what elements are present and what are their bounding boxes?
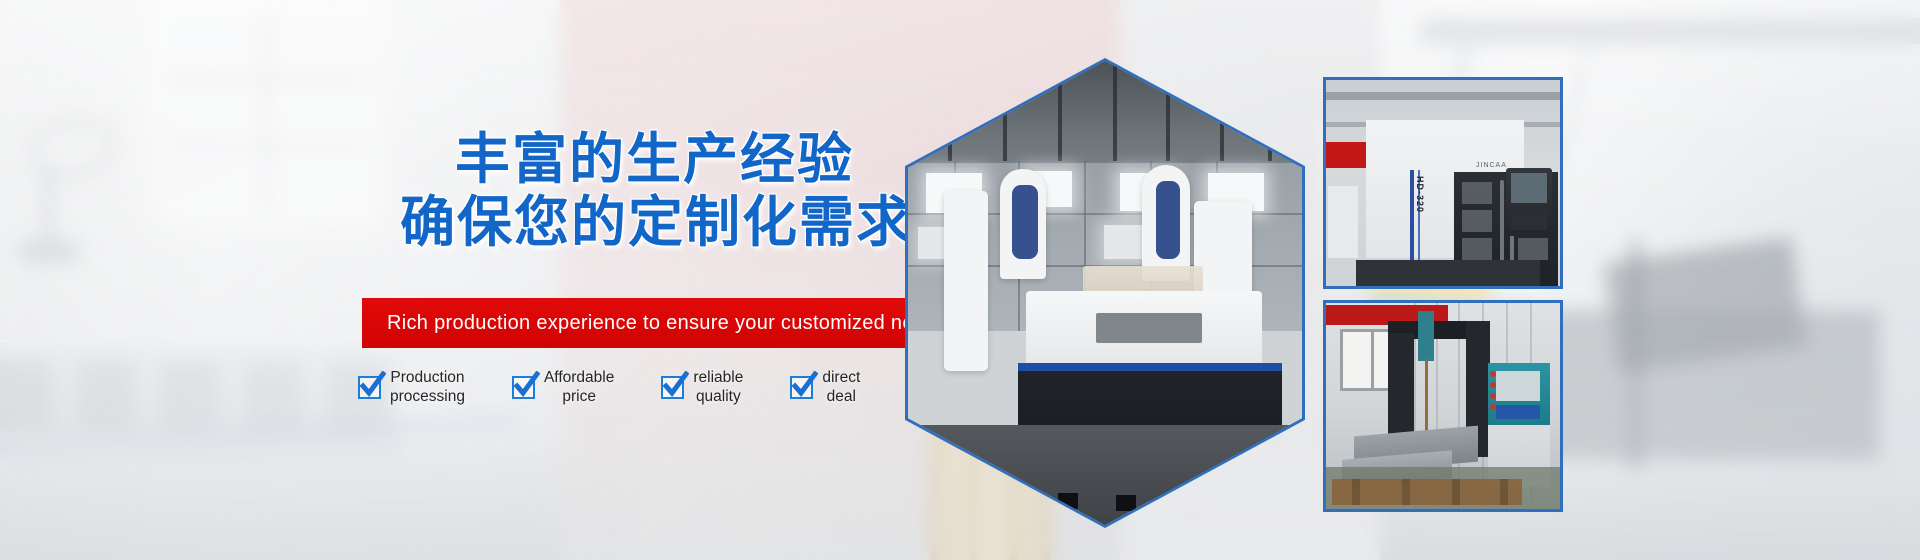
- p1-control-screen: [1511, 173, 1547, 203]
- checkbox-checked-icon[interactable]: [512, 376, 535, 399]
- subtitle-text: Rich production experience to ensure you…: [387, 312, 947, 335]
- banner-text-block: 丰富的生产经验 确保您的定制化需求 Rich production experi…: [0, 0, 980, 560]
- p1-model-label: HD-320: [1415, 176, 1425, 213]
- checkbox-checked-icon[interactable]: [790, 376, 813, 399]
- machine-column-left: [944, 191, 988, 371]
- p2-control-cabinet-top: [1488, 363, 1550, 425]
- p2-wooden-pallet: [1332, 479, 1522, 505]
- p2-control-screen: [1496, 371, 1540, 401]
- p1-side-cabinet: [1328, 186, 1358, 258]
- feature-list: Production processing Affordable price r…: [358, 368, 860, 407]
- checkbox-checked-icon[interactable]: [661, 376, 684, 399]
- machine-head-left-window: [1012, 185, 1038, 259]
- feature-label: Affordable price: [544, 368, 614, 407]
- machine-head-right-window: [1156, 181, 1180, 259]
- machine-foot: [1116, 495, 1136, 511]
- feature-item-affordable-price[interactable]: Affordable price: [512, 368, 614, 407]
- p2-control-buttons: [1490, 371, 1496, 421]
- p2-control-keypad: [1496, 405, 1540, 419]
- worktable-slot: [1096, 313, 1202, 343]
- p2-electrode-wire: [1425, 359, 1428, 437]
- p1-brand-mark: JINCAA: [1476, 162, 1507, 169]
- feature-label: reliable quality: [693, 368, 743, 407]
- machine-worktable: [1026, 291, 1262, 371]
- p1-machine-body: HD-320 JINCAA: [1366, 120, 1524, 258]
- p1-control-keypad: [1511, 210, 1547, 230]
- photo-edm-boring-machine[interactable]: [1323, 300, 1563, 512]
- p2-ram-head: [1418, 311, 1434, 361]
- feature-label: Production processing: [390, 368, 465, 407]
- p1-ceiling-beam: [1326, 92, 1560, 100]
- headline-line-2: 确保您的定制化需求: [400, 195, 913, 250]
- checkbox-checked-icon[interactable]: [358, 376, 381, 399]
- p1-cnc-control-panel: [1506, 168, 1552, 236]
- p1-machine-plinth: [1356, 260, 1540, 286]
- subtitle-red-bar: Rich production experience to ensure you…: [362, 298, 907, 348]
- photo-hd320-machining-center[interactable]: HD-320 JINCAA: [1323, 77, 1563, 289]
- feature-item-production-processing[interactable]: Production processing: [358, 368, 465, 407]
- feature-label: direct deal: [822, 368, 860, 407]
- feature-item-reliable-quality[interactable]: reliable quality: [661, 368, 743, 407]
- headline-line-1: 丰富的生产经验: [455, 132, 854, 187]
- feature-item-direct-deal[interactable]: direct deal: [790, 368, 860, 407]
